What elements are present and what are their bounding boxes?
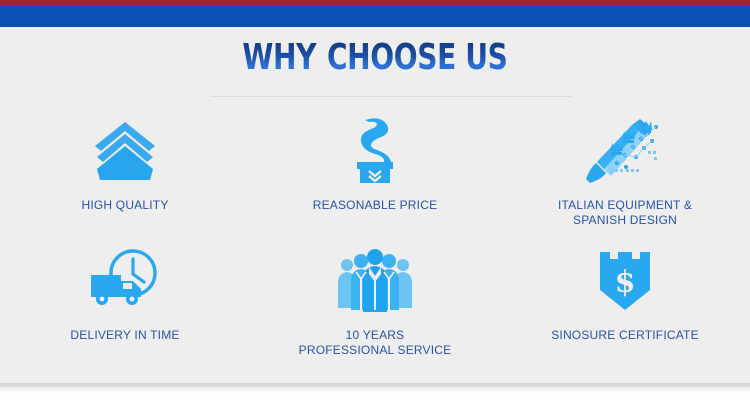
icon-wrap [93, 110, 157, 192]
shield-dollar-icon: $ [596, 248, 654, 312]
feature-sinosure-certificate: $ SINOSURE CERTIFICATE [500, 238, 750, 378]
feature-label: HIGH QUALITY [81, 198, 168, 213]
page-title: WHYCHOOSE US [0, 40, 750, 76]
icon-wrap [586, 110, 664, 192]
icon-wrap [335, 238, 415, 322]
feature-label: DELIVERY IN TIME [70, 328, 179, 343]
chevron-stack-icon [93, 120, 157, 182]
truck-clock-icon [87, 249, 163, 311]
feature-italian-equipment: ITALIAN EQUIPMENT & SPANISH DESIGN [500, 110, 750, 238]
icon-wrap [343, 110, 407, 192]
icon-wrap: $ [596, 238, 654, 322]
svg-text:$: $ [615, 265, 636, 300]
why-choose-us-banner: WHYCHOOSE US HIGH QUALITY [0, 0, 750, 403]
feature-professional-service: 10 YEARS PROFESSIONAL SERVICE [250, 238, 500, 378]
feature-label: REASONABLE PRICE [313, 198, 438, 213]
icon-wrap [87, 238, 163, 322]
dollar-down-arrows-icon [343, 116, 407, 186]
people-group-icon [335, 248, 415, 312]
top-blue-band [0, 5, 750, 27]
feature-label: 10 YEARS PROFESSIONAL SERVICE [299, 328, 452, 358]
features-grid: HIGH QUALITY REASONABLE PRICE [0, 110, 750, 378]
feature-delivery-in-time: DELIVERY IN TIME [0, 238, 250, 378]
title-word-choose-us: CHOOSE US [327, 37, 508, 78]
design-pen-icon [586, 115, 664, 187]
feature-reasonable-price: REASONABLE PRICE [250, 110, 500, 238]
feature-label: SINOSURE CERTIFICATE [551, 328, 699, 343]
panel-bottom-shadow [0, 383, 750, 393]
title-divider [210, 96, 572, 97]
title-word-why: WHY [242, 37, 327, 78]
feature-label: ITALIAN EQUIPMENT & SPANISH DESIGN [558, 198, 692, 228]
feature-high-quality: HIGH QUALITY [0, 110, 250, 238]
